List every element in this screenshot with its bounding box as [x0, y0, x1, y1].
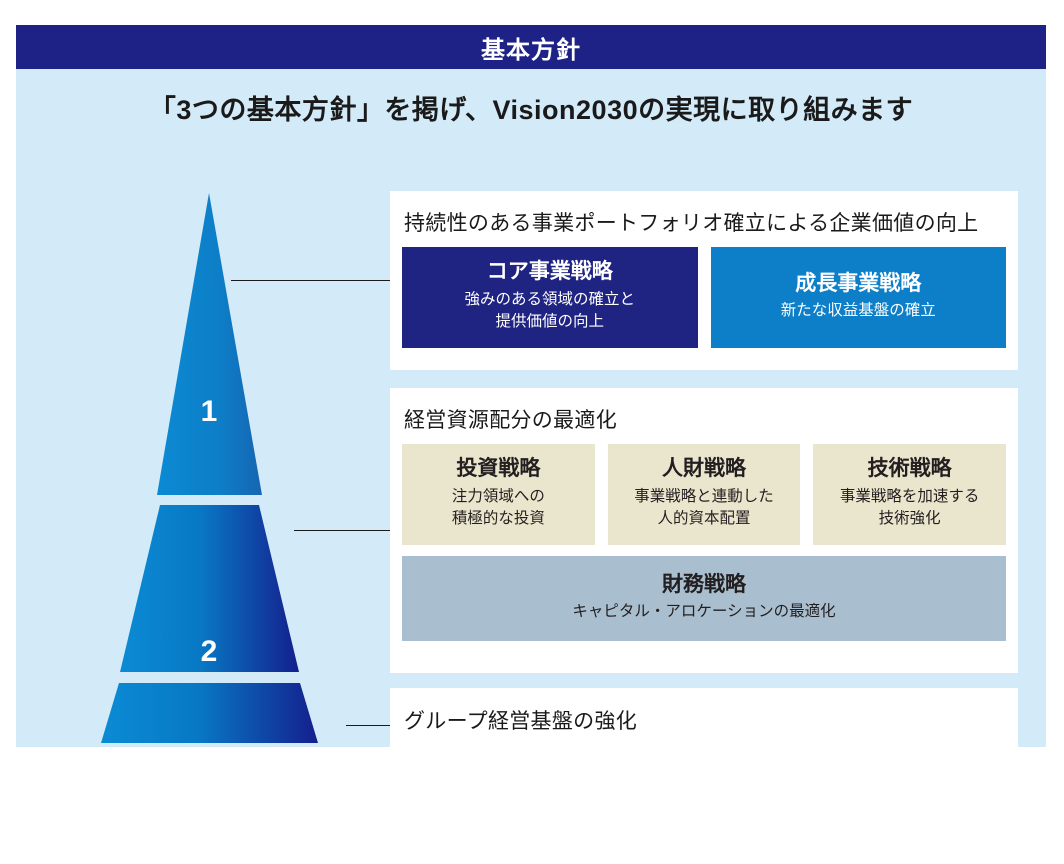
- panel-tier-3: グループ経営基盤の強化: [390, 688, 1018, 752]
- human-capital-strategy-desc-line-2: 人的資本配置: [658, 508, 751, 530]
- page-title: 基本方針: [481, 30, 581, 65]
- pyramid-tier-3: [101, 683, 318, 743]
- connector-line-tier-3: [346, 725, 391, 726]
- technology-strategy-box[interactable]: 技術戦略 事業戦略を加速する 技術強化: [813, 444, 1006, 545]
- panel-tier-2: 経営資源配分の最適化 投資戦略 注力領域への 積極的な投資 人財戦略 事業戦略と…: [390, 388, 1018, 673]
- human-capital-strategy-box[interactable]: 人財戦略 事業戦略と連動した 人的資本配置: [608, 444, 801, 545]
- core-business-strategy-box[interactable]: コア事業戦略 強みのある領域の確立と 提供価値の向上: [402, 247, 698, 348]
- investment-strategy-box[interactable]: 投資戦略 注力領域への 積極的な投資: [402, 444, 595, 545]
- investment-strategy-desc-line-1: 注力領域への: [452, 486, 545, 508]
- technology-strategy-title: 技術戦略: [868, 456, 952, 482]
- pyramid-tier-2-number: 2: [179, 635, 239, 669]
- core-business-strategy-title: コア事業戦略: [487, 259, 613, 285]
- human-capital-strategy-title: 人財戦略: [662, 456, 746, 482]
- slide-subtitle: 「3つの基本方針」を掲げ、Vision2030の実現に取り組みます: [16, 77, 1046, 137]
- investment-strategy-title: 投資戦略: [456, 456, 540, 482]
- financial-strategy-box[interactable]: 財務戦略 キャピタル・アロケーションの最適化: [402, 556, 1006, 641]
- financial-strategy-desc-line-1: キャピタル・アロケーションの最適化: [572, 601, 835, 623]
- panel-tier-2-heading: 経営資源配分の最適化: [390, 388, 1018, 434]
- panel-tier-1-box-row: コア事業戦略 強みのある領域の確立と 提供価値の向上 成長事業戦略 新たな収益基…: [390, 237, 1018, 348]
- growth-business-strategy-box[interactable]: 成長事業戦略 新たな収益基盤の確立: [711, 247, 1007, 348]
- panel-tier-3-heading: グループ経営基盤の強化: [390, 705, 637, 735]
- pyramid-diagram: 1 2 3: [16, 155, 376, 745]
- connector-line-tier-1: [231, 280, 391, 281]
- technology-strategy-desc-line-2: 技術強化: [879, 508, 941, 530]
- slide-canvas: 基本方針 「3つの基本方針」を掲げ、Vision2030の実現に取り組みます: [16, 25, 1046, 747]
- connector-line-tier-2: [294, 530, 391, 531]
- slide-header: 基本方針: [16, 25, 1046, 69]
- panel-tier-2-box-row: 投資戦略 注力領域への 積極的な投資 人財戦略 事業戦略と連動した 人的資本配置…: [390, 434, 1018, 545]
- panel-tier-1-heading: 持続性のある事業ポートフォリオ確立による企業価値の向上: [390, 191, 1018, 237]
- financial-strategy-title: 財務戦略: [662, 572, 746, 598]
- growth-business-strategy-title: 成長事業戦略: [795, 271, 921, 297]
- pyramid-tier-3-number: 3: [179, 830, 239, 864]
- pyramid-tier-1: [157, 193, 262, 495]
- panel-tier-1: 持続性のある事業ポートフォリオ確立による企業価値の向上 コア事業戦略 強みのある…: [390, 191, 1018, 370]
- investment-strategy-desc-line-2: 積極的な投資: [452, 508, 545, 530]
- pyramid-tier-1-number: 1: [179, 395, 239, 429]
- core-business-strategy-desc-line-2: 提供価値の向上: [495, 311, 604, 333]
- technology-strategy-desc-line-1: 事業戦略を加速する: [840, 486, 980, 508]
- core-business-strategy-desc-line-1: 強みのある領域の確立と: [464, 289, 635, 311]
- growth-business-strategy-desc-line-1: 新たな収益基盤の確立: [781, 300, 936, 322]
- human-capital-strategy-desc-line-1: 事業戦略と連動した: [634, 486, 774, 508]
